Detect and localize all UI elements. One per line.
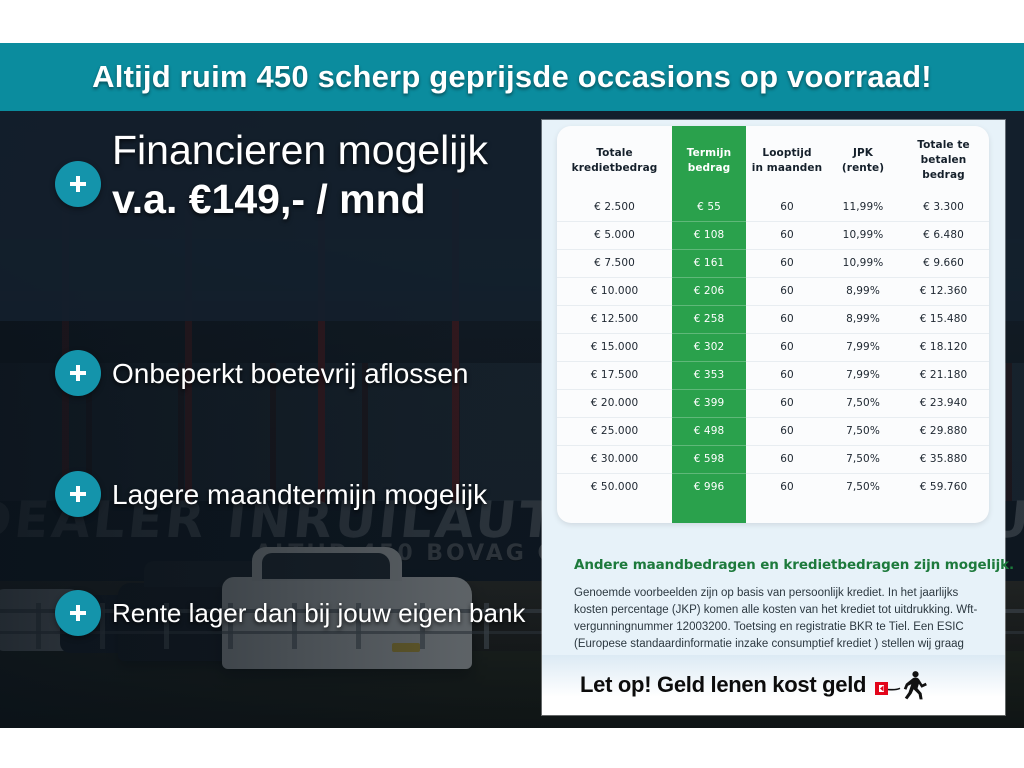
plus-icon	[55, 471, 101, 517]
headline-line-1: Financieren mogelijk	[112, 127, 532, 174]
cell-jpk: 7,50%	[828, 445, 898, 473]
cell-looptijd: 60	[746, 221, 828, 249]
cell-jpk: 7,50%	[828, 389, 898, 417]
col-header-looptijd-l1: Looptijd	[748, 146, 826, 161]
cell-krediet: € 2.500	[557, 194, 672, 222]
cell-krediet: € 17.500	[557, 361, 672, 389]
cell-totaal: € 9.660	[898, 249, 989, 277]
banner-headline-text: Altijd ruim 450 scherp geprijsde occasio…	[92, 59, 932, 95]
cell-krediet: € 12.500	[557, 305, 672, 333]
table-row: € 30.000€ 598607,50%€ 35.880	[557, 445, 989, 473]
col-header-jpk-l2: (rente)	[830, 161, 896, 176]
plus-icon	[55, 350, 101, 396]
loan-table-card: Totale kredietbedrag Termijn bedrag Loop…	[557, 126, 989, 523]
cell-krediet: € 50.000	[557, 473, 672, 501]
table-header: Totale kredietbedrag Termijn bedrag Loop…	[557, 126, 989, 194]
table-row: € 20.000€ 399607,50%€ 23.940	[557, 389, 989, 417]
table-row: € 12.500€ 258608,99%€ 15.480	[557, 305, 989, 333]
cell-totaal: € 12.360	[898, 277, 989, 305]
cell-jpk: 7,99%	[828, 361, 898, 389]
loan-example-table: Totale kredietbedrag Termijn bedrag Loop…	[557, 126, 989, 501]
table-row: € 17.500€ 353607,99%€ 21.180	[557, 361, 989, 389]
col-header-totaal-l2: betalen bedrag	[900, 153, 987, 183]
cell-totaal: € 15.480	[898, 305, 989, 333]
cell-looptijd: 60	[746, 389, 828, 417]
col-header-totaal: Totale te betalen bedrag	[898, 126, 989, 194]
cell-termijn: € 108	[672, 221, 746, 249]
top-white-margin	[0, 0, 1024, 43]
cell-krediet: € 5.000	[557, 221, 672, 249]
cell-looptijd: 60	[746, 194, 828, 222]
cell-termijn: € 258	[672, 305, 746, 333]
cell-krediet: € 15.000	[557, 333, 672, 361]
cell-jpk: 7,50%	[828, 417, 898, 445]
cell-jpk: 7,50%	[828, 473, 898, 501]
cell-jpk: 7,99%	[828, 333, 898, 361]
col-header-jpk-l1: JPK	[830, 146, 896, 161]
cell-looptijd: 60	[746, 445, 828, 473]
col-header-termijn-l2: bedrag	[674, 161, 744, 176]
cell-totaal: € 23.940	[898, 389, 989, 417]
cell-jpk: 10,99%	[828, 249, 898, 277]
table-row: € 15.000€ 302607,99%€ 18.120	[557, 333, 989, 361]
col-header-totaal-l1: Totale te	[900, 138, 987, 153]
bottom-white-margin	[0, 728, 1024, 768]
cell-totaal: € 3.300	[898, 194, 989, 222]
financing-headline: Financieren mogelijk v.a. €149,- / mnd	[112, 127, 532, 225]
table-header-row: Totale kredietbedrag Termijn bedrag Loop…	[557, 126, 989, 194]
cell-looptijd: 60	[746, 417, 828, 445]
table-row: € 25.000€ 498607,50%€ 29.880	[557, 417, 989, 445]
cell-termijn: € 55	[672, 194, 746, 222]
benefit-item-1: Onbeperkt boetevrij aflossen	[112, 358, 468, 390]
cell-krediet: € 20.000	[557, 389, 672, 417]
cell-totaal: € 59.760	[898, 473, 989, 501]
cell-looptijd: 60	[746, 333, 828, 361]
col-header-jpk: JPK (rente)	[828, 126, 898, 194]
cell-totaal: € 21.180	[898, 361, 989, 389]
col-header-krediet-l2: kredietbedrag	[559, 161, 670, 176]
cell-termijn: € 399	[672, 389, 746, 417]
benefit-item-2: Lagere maandtermijn mogelijk	[112, 479, 487, 511]
cell-looptijd: 60	[746, 473, 828, 501]
col-header-krediet: Totale kredietbedrag	[557, 126, 672, 194]
table-row: € 7.500€ 1616010,99%€ 9.660	[557, 249, 989, 277]
advertisement-banner: Altijd ruim 450 scherp geprijsde occasio…	[0, 0, 1024, 768]
cell-termijn: € 598	[672, 445, 746, 473]
plus-icon	[55, 161, 101, 207]
afm-running-man-icon	[874, 670, 930, 700]
table-row: € 5.000€ 1086010,99%€ 6.480	[557, 221, 989, 249]
table-row: € 50.000€ 996607,50%€ 59.760	[557, 473, 989, 501]
plus-icon	[55, 590, 101, 636]
col-header-krediet-l1: Totale	[559, 146, 670, 161]
cell-krediet: € 7.500	[557, 249, 672, 277]
financing-info-panel: Totale kredietbedrag Termijn bedrag Loop…	[542, 120, 1005, 715]
cell-looptijd: 60	[746, 305, 828, 333]
cell-termijn: € 206	[672, 277, 746, 305]
benefit-item-3: Rente lager dan bij jouw eigen bank	[112, 598, 525, 629]
cell-totaal: € 35.880	[898, 445, 989, 473]
legal-warning-text: Let op! Geld lenen kost geld	[580, 672, 866, 698]
col-header-termijn-l1: Termijn	[674, 146, 744, 161]
col-header-looptijd: Looptijd in maanden	[746, 126, 828, 194]
cell-totaal: € 29.880	[898, 417, 989, 445]
cell-krediet: € 30.000	[557, 445, 672, 473]
cell-looptijd: 60	[746, 277, 828, 305]
cell-jpk: 11,99%	[828, 194, 898, 222]
legal-warning-bar: Let op! Geld lenen kost geld	[542, 655, 1005, 715]
cell-termijn: € 302	[672, 333, 746, 361]
col-header-termijn: Termijn bedrag	[672, 126, 746, 194]
cell-jpk: 10,99%	[828, 221, 898, 249]
cell-krediet: € 25.000	[557, 417, 672, 445]
cell-looptijd: 60	[746, 249, 828, 277]
cell-termijn: € 498	[672, 417, 746, 445]
cell-jpk: 8,99%	[828, 277, 898, 305]
table-row: € 2.500€ 556011,99%€ 3.300	[557, 194, 989, 222]
cell-looptijd: 60	[746, 361, 828, 389]
col-header-looptijd-l2: in maanden	[748, 161, 826, 176]
cell-totaal: € 6.480	[898, 221, 989, 249]
cell-jpk: 8,99%	[828, 305, 898, 333]
cell-termijn: € 353	[672, 361, 746, 389]
cell-totaal: € 18.120	[898, 333, 989, 361]
cell-termijn: € 996	[672, 473, 746, 501]
cell-krediet: € 10.000	[557, 277, 672, 305]
table-body: € 2.500€ 556011,99%€ 3.300€ 5.000€ 10860…	[557, 194, 989, 501]
table-row: € 10.000€ 206608,99%€ 12.360	[557, 277, 989, 305]
headline-line-2: v.a. €149,- / mnd	[112, 174, 532, 225]
note-title: Andere maandbedragen en kredietbedragen …	[574, 557, 984, 573]
benefits-column: Financieren mogelijk v.a. €149,- / mnd O…	[0, 111, 542, 728]
headline-banner: Altijd ruim 450 scherp geprijsde occasio…	[0, 43, 1024, 111]
cell-termijn: € 161	[672, 249, 746, 277]
